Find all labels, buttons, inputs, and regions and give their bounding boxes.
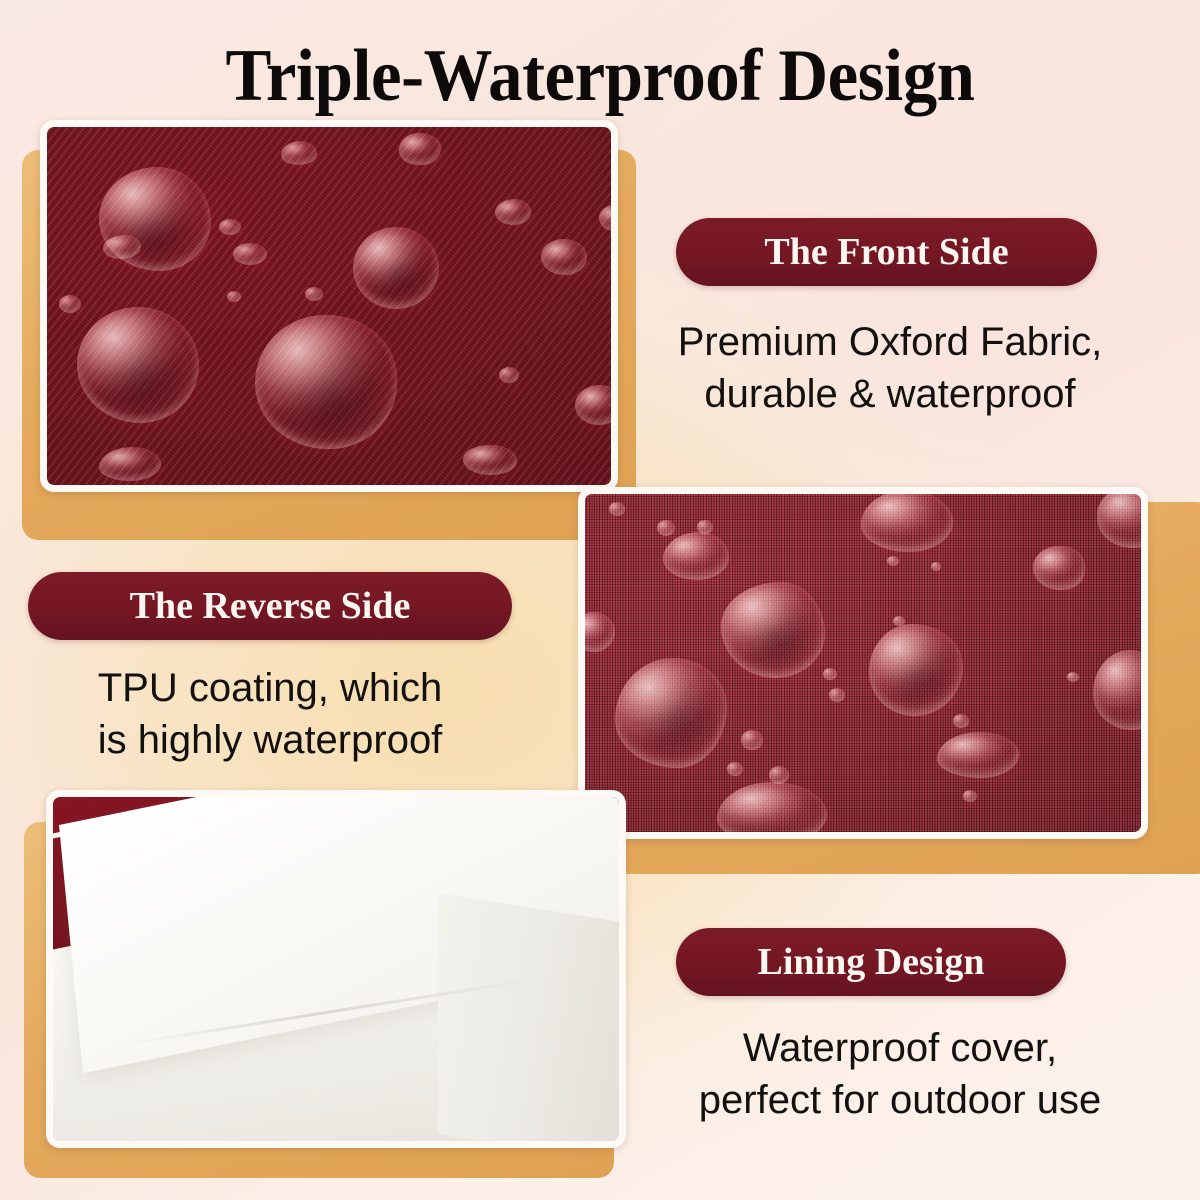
water-droplet (937, 732, 1019, 778)
badge-lining-design: Lining Design (676, 928, 1066, 996)
water-droplet-small (931, 562, 941, 571)
lining-side-panel (438, 893, 619, 1141)
water-droplet (663, 532, 729, 580)
water-droplet-small (281, 141, 317, 165)
water-droplet-small (1067, 672, 1079, 682)
water-droplet-small (963, 790, 977, 802)
water-droplet (255, 315, 397, 449)
water-droplet-small (741, 730, 763, 750)
caption-reverse-side-line1: TPU coating, which (20, 662, 520, 714)
water-droplet (353, 227, 439, 309)
caption-lining-design-line1: Waterproof cover, (620, 1022, 1180, 1074)
water-droplet-small (463, 445, 517, 475)
photo-reverse-side (578, 487, 1148, 839)
water-droplet-small (823, 668, 837, 680)
water-droplet-small (227, 291, 241, 302)
photo-frame-reverse-side (560, 480, 1200, 870)
caption-reverse-side-line2: is highly waterproof (20, 714, 520, 766)
badge-front-side: The Front Side (676, 218, 1097, 286)
caption-front-side-line2: durable & waterproof (640, 368, 1140, 420)
caption-front-side-line1: Premium Oxford Fabric, (640, 316, 1140, 368)
photo-front-side (40, 120, 618, 492)
water-droplet-small (893, 616, 905, 626)
photo-frame-lining-design (14, 790, 654, 1190)
water-droplet (77, 307, 199, 423)
water-droplet-small (233, 243, 267, 265)
water-droplet-small (953, 714, 969, 728)
water-droplet-small (541, 239, 587, 275)
water-droplet-small (657, 520, 675, 536)
water-droplet-small (499, 367, 519, 383)
water-droplet-small (697, 520, 713, 534)
photo-lining-design (46, 790, 626, 1148)
water-droplet-small (305, 287, 323, 301)
water-droplet-small (829, 688, 845, 702)
water-droplet (615, 658, 727, 768)
water-droplet-small (59, 295, 81, 313)
water-droplet-small (727, 762, 743, 776)
infographic-poster: Triple-Waterproof Design (0, 0, 1200, 1200)
badge-reverse-side: The Reverse Side (28, 572, 512, 640)
water-droplet-small (769, 766, 789, 784)
water-droplet (1033, 546, 1085, 590)
water-droplet (861, 494, 953, 552)
water-droplet-small (399, 133, 441, 165)
caption-lining-design-line2: perfect for outdoor use (620, 1074, 1180, 1126)
water-droplet-small (219, 219, 241, 235)
page-title: Triple-Waterproof Design (42, 36, 1158, 116)
water-droplet-small (495, 199, 531, 225)
water-droplet-small (99, 447, 161, 481)
water-droplet-small (887, 556, 899, 566)
water-droplet-small (609, 502, 625, 516)
